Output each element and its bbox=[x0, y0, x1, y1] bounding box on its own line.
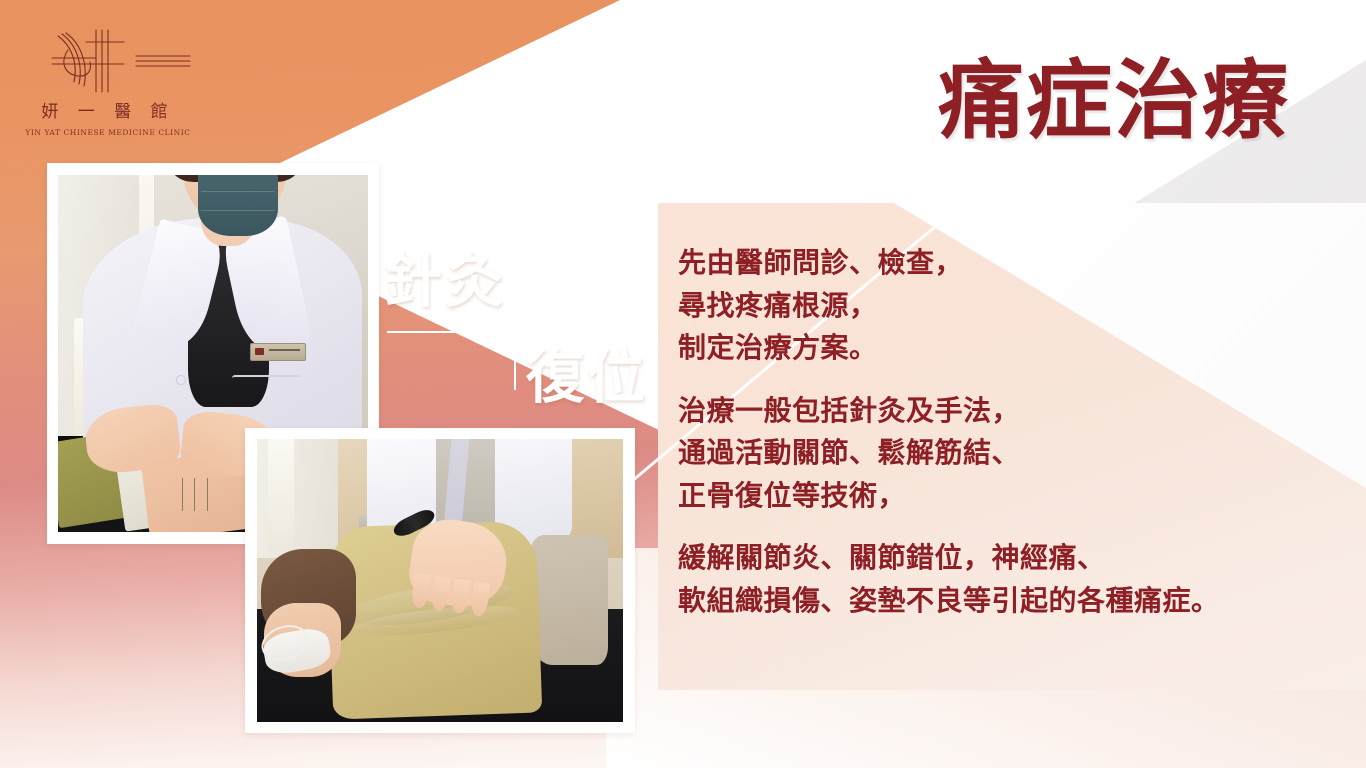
mark-vertical-rule bbox=[514, 300, 516, 390]
body-paragraph-3: 緩解關節炎、關節錯位，神經痛、 軟組織損傷、姿墊不良等引起的各種痛症。 bbox=[678, 537, 1318, 622]
body-paragraph-1: 先由醫師問診、檢查， 尋找疼痛根源， 制定治療方案。 bbox=[678, 242, 1318, 370]
body-paragraph-2: 治療一般包括針灸及手法， 通過活動關節、鬆解筋結、 正骨復位等技術， bbox=[678, 390, 1318, 518]
yin-yat-monogram-icon bbox=[24, 20, 192, 102]
manual-adjustment-scene bbox=[257, 439, 623, 722]
brand-name-en: YIN YAT CHINESE MEDICINE CLINIC bbox=[24, 128, 192, 137]
slide-canvas: 妍 一 醫 館 YIN YAT CHINESE MEDICINE CLINIC … bbox=[0, 0, 1366, 768]
method-acupuncture-label: 針灸 bbox=[384, 252, 506, 310]
body-copy: 先由醫師問診、檢查， 尋找疼痛根源， 制定治療方案。 治療一般包括針灸及手法， … bbox=[678, 242, 1318, 622]
method-repositioning-label: 復位 bbox=[526, 348, 648, 406]
manual-adjustment-photo bbox=[245, 428, 635, 733]
brand-logo: 妍 一 醫 館 YIN YAT CHINESE MEDICINE CLINIC bbox=[24, 20, 192, 140]
page-title: 痛症治療 bbox=[938, 58, 1290, 144]
brand-name-cn: 妍 一 醫 館 bbox=[24, 104, 192, 121]
adjustment-photo-inner bbox=[257, 439, 623, 722]
treatment-method-mark: 針灸 復位 bbox=[384, 252, 646, 402]
